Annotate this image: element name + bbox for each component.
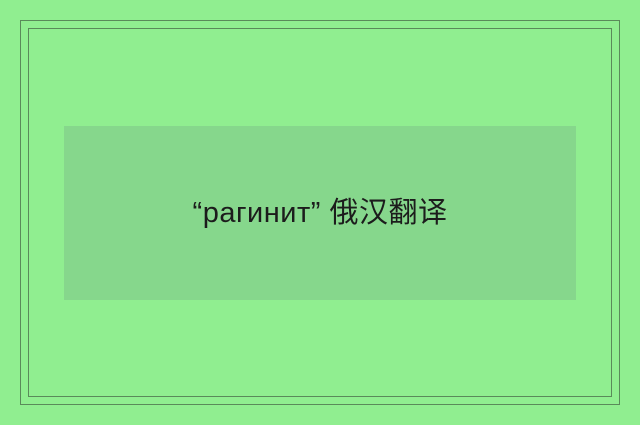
title-panel: “рагинит” 俄汉翻译 [64, 126, 576, 300]
page-canvas: “рагинит” 俄汉翻译 [0, 0, 640, 425]
page-title: “рагинит” 俄汉翻译 [155, 188, 485, 239]
